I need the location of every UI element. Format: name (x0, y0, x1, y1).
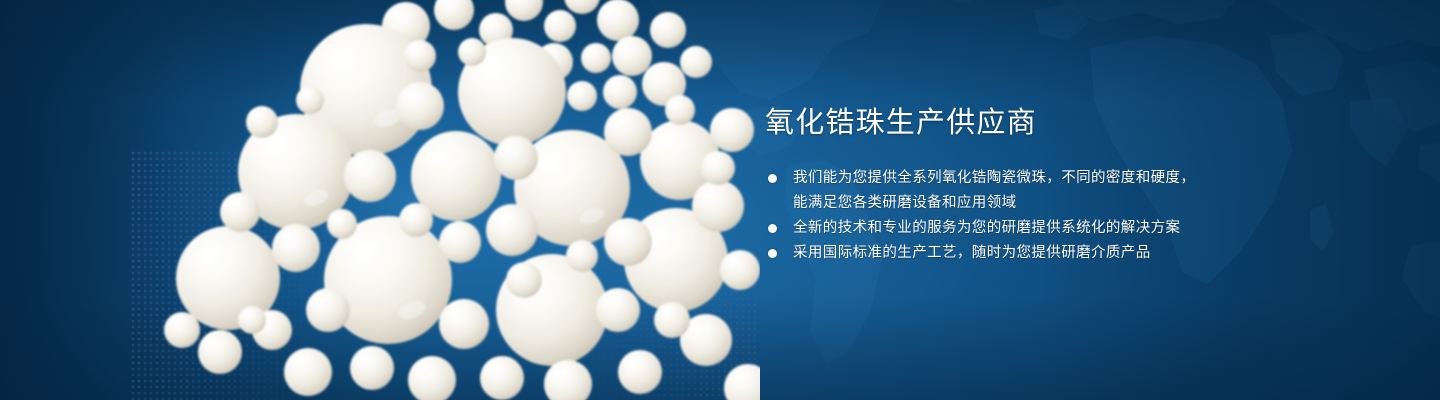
list-item-line: 采用国际标准的生产工艺，随时为您提供研磨介质产品 (793, 245, 1151, 261)
banner-copy: 氧化锆珠生产供应商 我们能为您提供全系列氧化锆陶瓷微珠，不同的密度和硬度， 能满… (765, 104, 1235, 266)
list-item-line: 全新的技术和专业的服务为您的研磨提供系统化的解决方案 (793, 220, 1180, 236)
bullet-dot-icon (768, 224, 777, 233)
list-item: 我们能为您提供全系列氧化锆陶瓷微珠，不同的密度和硬度， 能满足您各类研磨设备和应… (765, 166, 1235, 216)
hero-banner: 氧化锆珠生产供应商 我们能为您提供全系列氧化锆陶瓷微珠，不同的密度和硬度， 能满… (0, 0, 1440, 400)
list-item-line: 我们能为您提供全系列氧化锆陶瓷微珠，不同的密度和硬度， (793, 170, 1195, 186)
feature-list: 我们能为您提供全系列氧化锆陶瓷微珠，不同的密度和硬度， 能满足您各类研磨设备和应… (765, 166, 1235, 266)
list-item-text: 全新的技术和专业的服务为您的研磨提供系统化的解决方案 (793, 216, 1235, 241)
list-item-text: 采用国际标准的生产工艺，随时为您提供研磨介质产品 (793, 241, 1235, 266)
bullet-dot-icon (768, 174, 777, 183)
list-item: 全新的技术和专业的服务为您的研磨提供系统化的解决方案 (765, 216, 1235, 241)
list-item: 采用国际标准的生产工艺，随时为您提供研磨介质产品 (765, 241, 1235, 266)
bullet-dot-icon (768, 249, 777, 258)
list-item-line: 能满足您各类研磨设备和应用领域 (793, 191, 1235, 216)
list-item-text: 我们能为您提供全系列氧化锆陶瓷微珠，不同的密度和硬度， 能满足您各类研磨设备和应… (793, 166, 1235, 216)
page-title: 氧化锆珠生产供应商 (765, 104, 1235, 142)
